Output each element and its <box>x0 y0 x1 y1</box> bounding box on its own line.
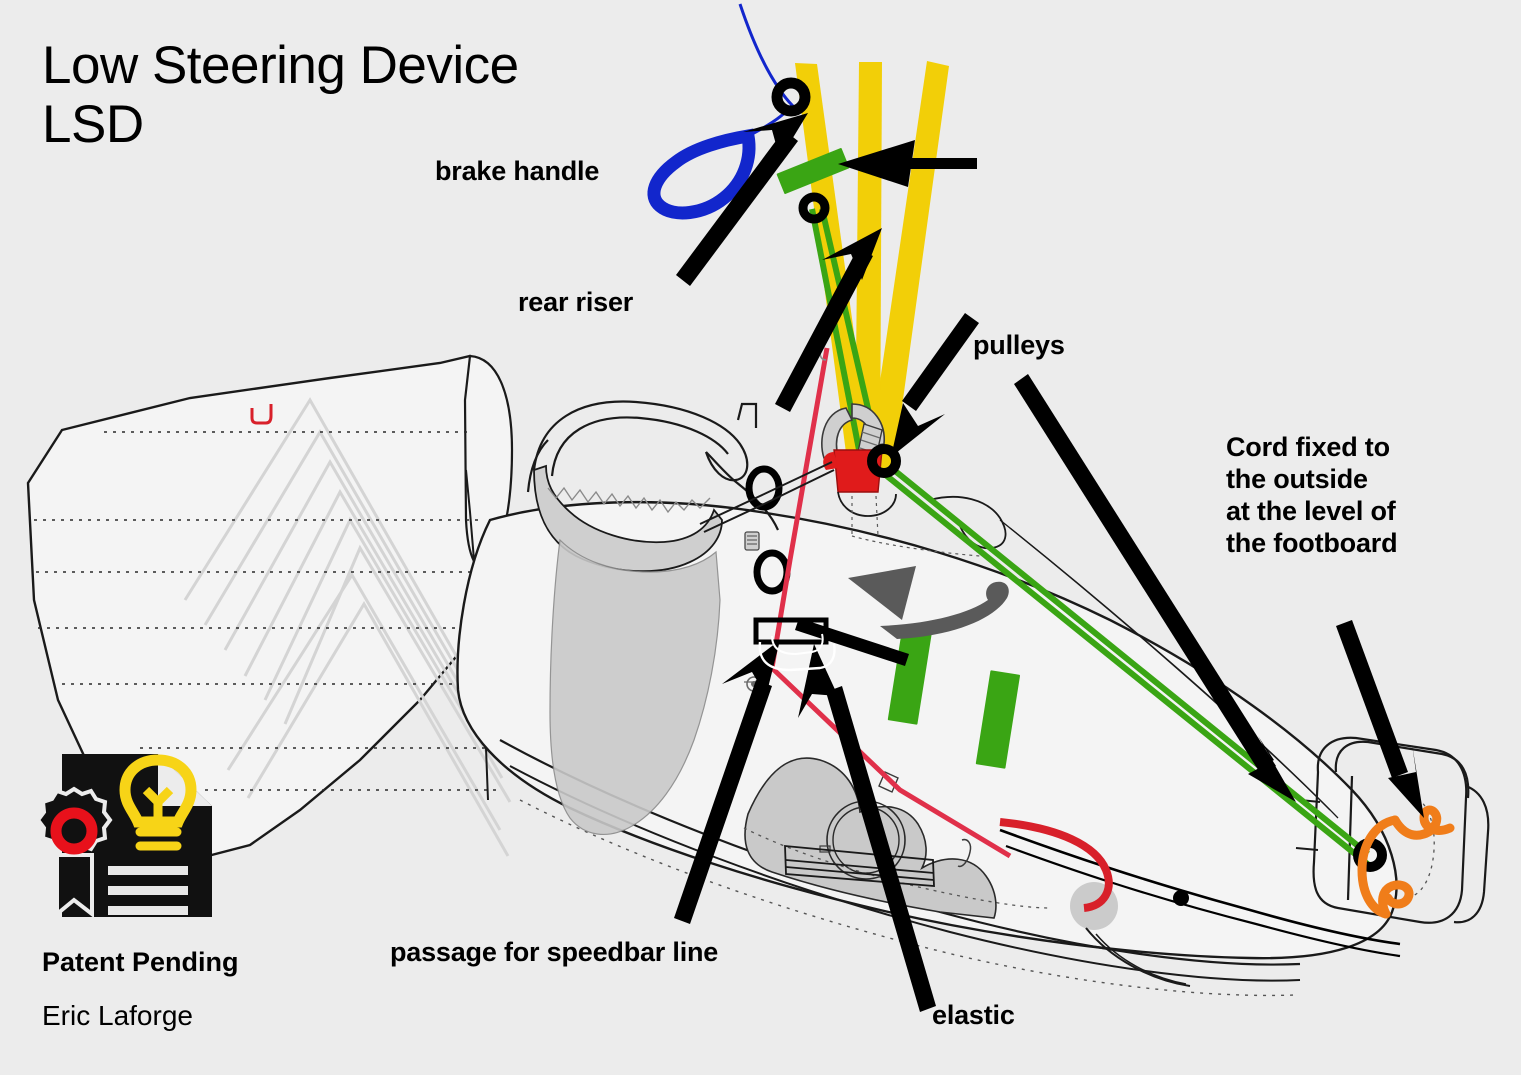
strap-ring-upper <box>749 469 779 507</box>
brake-line <box>740 4 792 136</box>
label-cord-fixed: Cord fixed to the outside at the level o… <box>1226 432 1397 559</box>
label-passage-speedbar: passage for speedbar line <box>390 937 718 969</box>
footboard-cord-bottom-hook <box>1383 885 1409 914</box>
badge-text-line-1 <box>108 866 188 875</box>
label-rear-riser: rear riser <box>518 287 633 319</box>
author-label: Eric Laforge <box>42 1000 193 1032</box>
label-brake-handle: brake handle <box>435 156 599 188</box>
patent-certificate-icon <box>38 754 212 917</box>
badge-text-line-2 <box>108 886 188 895</box>
pulley-top <box>777 83 805 111</box>
label-elastic: elastic <box>932 1000 1015 1032</box>
page-title: Low Steering DeviceLSD <box>42 36 519 155</box>
webbing-adjuster <box>745 532 759 550</box>
page-title-line2: LSD <box>42 95 144 154</box>
badge-text-line-3 <box>108 906 188 915</box>
label-pulleys: pulleys <box>973 330 1065 362</box>
carabiner-strap <box>838 492 896 516</box>
diagram-page: Low Steering DeviceLSD brake handle rear… <box>0 0 1521 1075</box>
patent-pending-label: Patent Pending <box>42 947 239 978</box>
page-title-line1: Low Steering Device <box>42 36 519 95</box>
